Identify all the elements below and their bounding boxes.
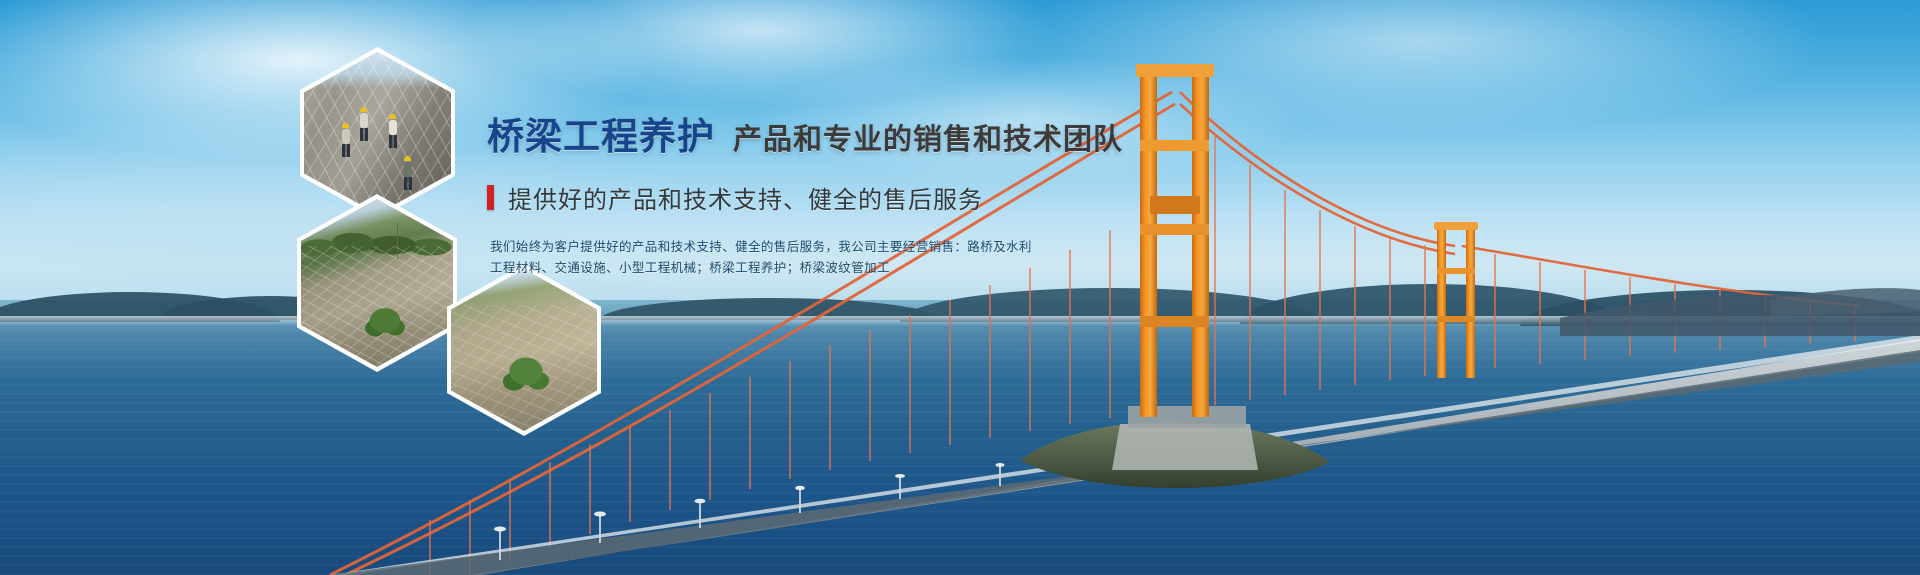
worker-legs <box>360 128 368 141</box>
hexagon-photo-3-image <box>451 269 597 431</box>
bridge-secondary-tower <box>1434 222 1478 378</box>
helmet-icon <box>360 107 367 112</box>
hexagon-photo-2-image <box>301 199 453 367</box>
suspension-bridge-illustration <box>0 0 1920 575</box>
rockfall-netting-workers-photo <box>304 52 451 214</box>
slope-protection-netting-photo <box>301 199 453 367</box>
shrub <box>362 303 408 345</box>
netting-mesh-overlay <box>304 52 451 214</box>
worker-legs <box>404 177 412 190</box>
headline-secondary: 产品和专业的销售和技术团队 <box>733 126 1123 155</box>
hero-banner: 桥梁工程养护 产品和专业的销售和技术团队 提供好的产品和技术支持、健全的售后服务… <box>0 0 1920 575</box>
accent-bar <box>487 185 494 210</box>
headline-primary: 桥梁工程养护 <box>487 118 715 155</box>
helmet-icon <box>342 123 349 128</box>
banner-copy: 桥梁工程养护 产品和专业的销售和技术团队 提供好的产品和技术支持、健全的售后服务… <box>487 118 1247 279</box>
body-copy-line-2: 工程材料、交通设施、小型工程机械；桥梁工程养护；桥梁波纹管加工 <box>490 258 1050 279</box>
worker-legs <box>389 135 397 148</box>
worker-figure <box>360 107 368 141</box>
worker-figure <box>389 114 397 148</box>
banner-headline: 桥梁工程养护 产品和专业的销售和技术团队 <box>487 118 1247 155</box>
bridge-pier-island <box>1020 406 1330 488</box>
worker-figure <box>404 156 412 190</box>
far-shore-land <box>1560 288 1920 336</box>
shrub <box>501 353 551 399</box>
slope-greening-netting-photo <box>451 269 597 431</box>
hexagon-photo-1-image <box>304 52 451 214</box>
bridge-side-cable <box>1180 92 1860 306</box>
helmet-icon <box>404 156 411 161</box>
worker-body <box>342 129 350 144</box>
worker-body <box>389 120 397 135</box>
worker-body <box>360 113 368 128</box>
body-copy-line-1: 我们始终为客户提供好的产品和技术支持、健全的售后服务，我公司主要经营销售：路桥及… <box>490 237 1050 258</box>
helmet-icon <box>389 114 396 119</box>
subheadline-text: 提供好的产品和技术支持、健全的售后服务 <box>508 180 983 215</box>
worker-figure <box>342 123 350 157</box>
worker-body <box>404 162 412 177</box>
banner-subheadline: 提供好的产品和技术支持、健全的售后服务 <box>487 180 1247 215</box>
worker-legs <box>342 144 350 157</box>
banner-body-copy: 我们始终为客户提供好的产品和技术支持、健全的售后服务，我公司主要经营销售：路桥及… <box>490 237 1050 279</box>
